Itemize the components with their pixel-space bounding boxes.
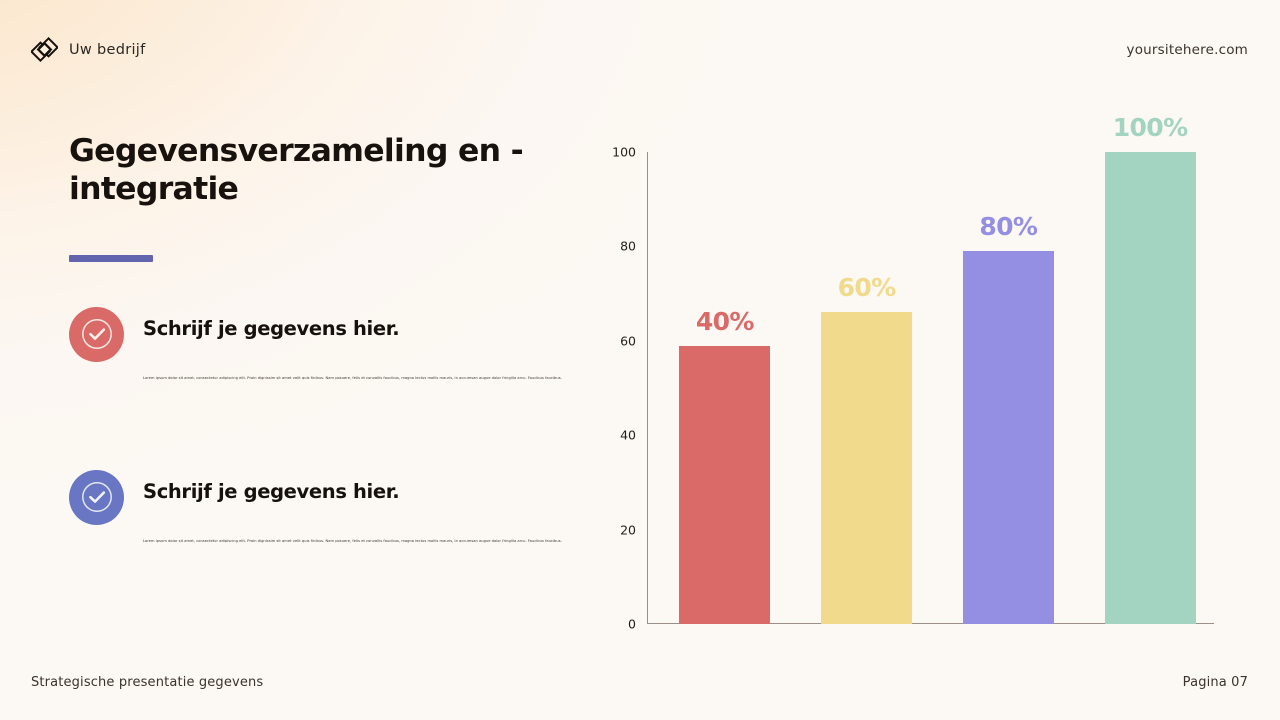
chart-y-tick-label: 20 [620, 522, 647, 537]
chart-bar-slot: 80% [963, 152, 1054, 624]
chart-bar-value-label: 40% [679, 307, 770, 336]
list-item-heading: Schrijf je gegevens hier. [143, 480, 579, 503]
list-item-body: Schrijf je gegevens hier. Lorem ipsum do… [143, 470, 579, 544]
footer-left-label: Strategische presentatie gegevens [31, 675, 263, 690]
page-number: Pagina 07 [1183, 675, 1248, 690]
chart-bar [679, 346, 770, 624]
check-circle-icon [69, 470, 124, 525]
presentation-slide: Uw bedrijf yoursitehere.com Gegevensverz… [0, 0, 1280, 720]
site-url: yoursitehere.com [1127, 42, 1248, 58]
bar-chart: 020406080100 40%60%80%100% [612, 140, 1232, 640]
chart-bar-slot: 100% [1105, 152, 1196, 624]
chart-bar-slot: 60% [821, 152, 912, 624]
bullet-points-list: Schrijf je gegevens hier. Lorem ipsum do… [69, 307, 579, 588]
chart-bar [821, 312, 912, 624]
chart-bar-value-label: 60% [821, 273, 912, 302]
accent-divider [69, 255, 153, 262]
list-item: Schrijf je gegevens hier. Lorem ipsum do… [69, 307, 579, 425]
list-item-heading: Schrijf je gegevens hier. [143, 317, 579, 340]
chart-y-tick-label: 80 [620, 239, 647, 254]
list-item-body: Schrijf je gegevens hier. Lorem ipsum do… [143, 307, 579, 381]
list-item-text: Lorem ipsum dolor sit amet, consectetur … [143, 376, 563, 381]
page-title: Gegevensverzameling en -integratie [69, 132, 579, 209]
chart-bar [963, 251, 1054, 624]
brand-logo: Uw bedrijf [31, 36, 146, 63]
chart-bar-value-label: 100% [1105, 113, 1196, 142]
chart-bar [1105, 152, 1196, 624]
chart-bar-value-label: 80% [963, 212, 1054, 241]
diamond-logo-icon [31, 36, 58, 63]
brand-name: Uw bedrijf [69, 42, 146, 58]
content-column: Gegevensverzameling en -integratie Schri… [69, 132, 579, 588]
list-item: Schrijf je gegevens hier. Lorem ipsum do… [69, 470, 579, 588]
chart-bar-slot: 40% [679, 152, 770, 624]
list-item-text: Lorem ipsum dolor sit amet, consectetur … [143, 539, 563, 544]
chart-y-tick-label: 0 [628, 617, 647, 632]
check-circle-icon [69, 307, 124, 362]
chart-y-tick-label: 60 [620, 333, 647, 348]
slide-header: Uw bedrijf yoursitehere.com [0, 0, 1280, 96]
chart-bars-group: 40%60%80%100% [647, 152, 1214, 624]
chart-y-tick-label: 100 [612, 145, 647, 160]
chart-y-tick-label: 40 [620, 428, 647, 443]
